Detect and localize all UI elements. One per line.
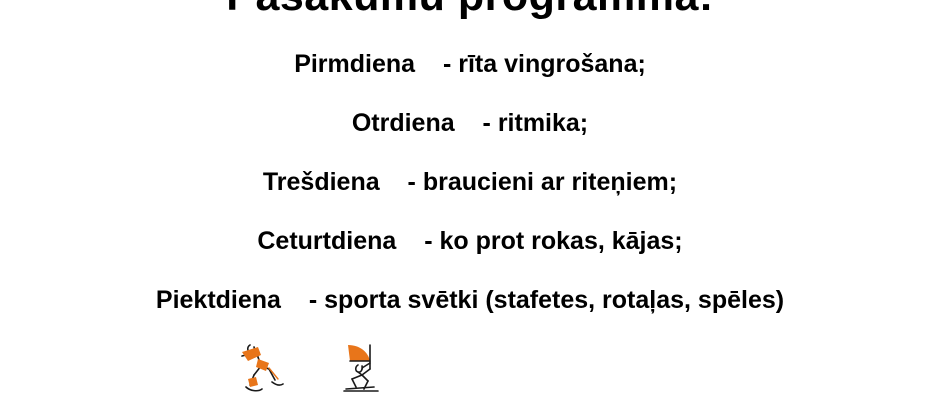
schedule-separator: - <box>424 227 432 255</box>
schedule-activity: ritmika; <box>498 109 588 137</box>
page-title: Pasākumu programma: <box>0 0 940 21</box>
slide-canvas: Pasākumu programma: Pirmdiena - rīta vin… <box>0 0 940 400</box>
schedule-day: Pirmdiena <box>294 50 415 78</box>
ice-skater-clipart <box>228 335 290 402</box>
schedule-day: Trešdiena <box>263 168 380 196</box>
schedule-day: Otrdiena <box>352 109 455 137</box>
schedule-separator: - <box>408 168 416 196</box>
windsurfer-clipart <box>328 335 390 402</box>
schedule-activity: sporta svētki (stafetes, rotaļas, spēles… <box>324 286 784 314</box>
schedule-day: Ceturtdiena <box>257 227 396 255</box>
list-item: Trešdiena - braucieni ar riteņiem; <box>0 162 940 221</box>
list-item: Ceturtdiena - ko prot rokas, kājas; <box>0 221 940 280</box>
schedule-activity: rīta vingrošana; <box>458 50 646 78</box>
list-item: Piektdiena - sporta svētki (stafetes, ro… <box>0 280 940 339</box>
list-item: Pirmdiena - rīta vingrošana; <box>0 44 940 103</box>
schedule-list: Pirmdiena - rīta vingrošana; Otrdiena - … <box>0 44 940 339</box>
schedule-separator: - <box>443 50 451 78</box>
list-item: Otrdiena - ritmika; <box>0 103 940 162</box>
illustration-group <box>228 335 408 397</box>
schedule-separator: - <box>483 109 491 137</box>
schedule-activity: braucieni ar riteņiem; <box>423 168 677 196</box>
schedule-separator: - <box>309 286 317 314</box>
schedule-activity: ko prot rokas, kājas; <box>439 227 682 255</box>
schedule-day: Piektdiena <box>156 286 281 314</box>
